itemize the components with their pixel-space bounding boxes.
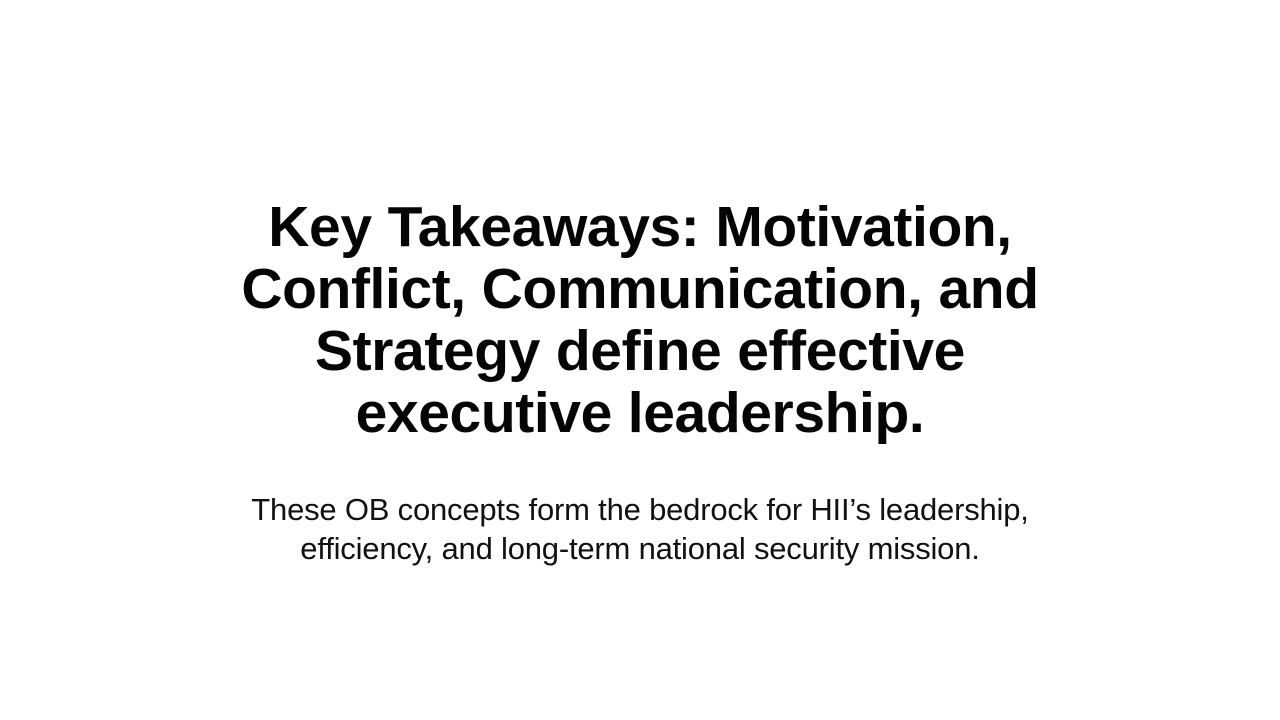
page-title: Key Takeaways: Motivation, Conflict, Com… [180, 196, 1100, 444]
slide-canvas: Key Takeaways: Motivation, Conflict, Com… [0, 0, 1280, 720]
slide-subtitle: These OB concepts form the bedrock for H… [200, 490, 1080, 568]
slide-content-block: Key Takeaways: Motivation, Conflict, Com… [170, 196, 1110, 568]
